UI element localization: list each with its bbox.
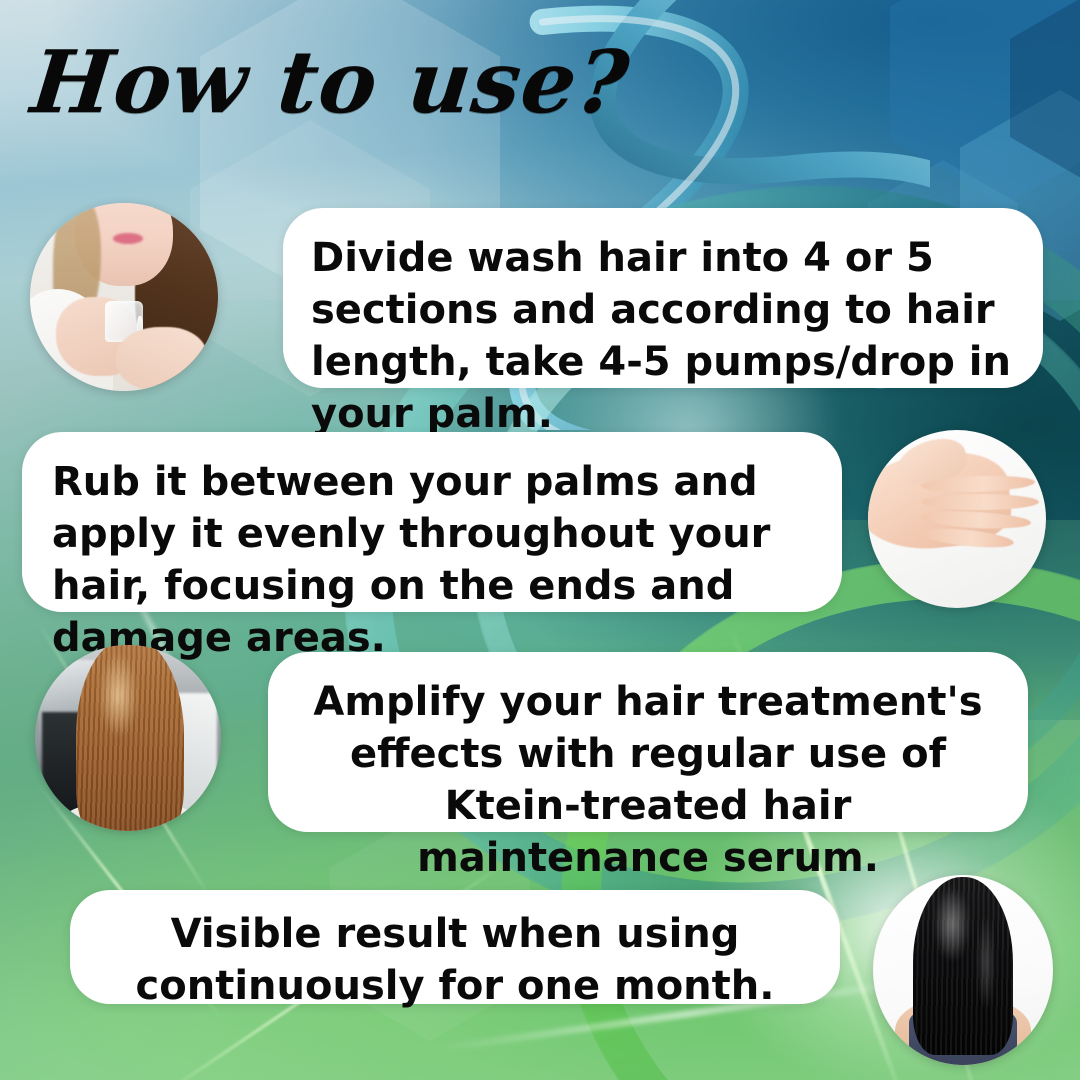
photo-backdrop bbox=[868, 430, 1046, 608]
step-image-woman-dispensing-serum-into-palm bbox=[30, 203, 218, 391]
step-text: Visible result when using continuously f… bbox=[100, 908, 810, 1012]
photo-backdrop bbox=[873, 875, 1053, 1065]
step-card-2: Rub it between your palms and apply it e… bbox=[22, 432, 842, 612]
hair-shine-shape bbox=[977, 913, 995, 1012]
how-to-use-poster: How to use? Divide wash hair into 4 or 5… bbox=[0, 0, 1080, 1080]
step-text: Rub it between your palms and apply it e… bbox=[52, 456, 812, 664]
step-text: Amplify your hair treatment's effects wi… bbox=[298, 676, 998, 884]
page-title: How to use? bbox=[27, 40, 633, 126]
step-image-long-glossy-black-hair-back-view bbox=[873, 875, 1053, 1065]
step-image-hands-rubbing-palms-together bbox=[868, 430, 1046, 608]
finger-shape bbox=[921, 494, 1038, 510]
photo-backdrop bbox=[30, 203, 218, 391]
step-text: Divide wash hair into 4 or 5 sections an… bbox=[311, 232, 1013, 440]
hair-shine-shape bbox=[98, 652, 139, 738]
step-card-3: Amplify your hair treatment's effects wi… bbox=[268, 652, 1028, 832]
right-hand-shape bbox=[116, 327, 206, 391]
step-card-4: Visible result when using continuously f… bbox=[70, 890, 840, 1004]
step-image-straight-auburn-hair-back-view bbox=[35, 645, 221, 831]
photo-backdrop bbox=[35, 645, 221, 831]
hair-shine-shape bbox=[934, 886, 970, 962]
step-card-1: Divide wash hair into 4 or 5 sections an… bbox=[283, 208, 1043, 388]
